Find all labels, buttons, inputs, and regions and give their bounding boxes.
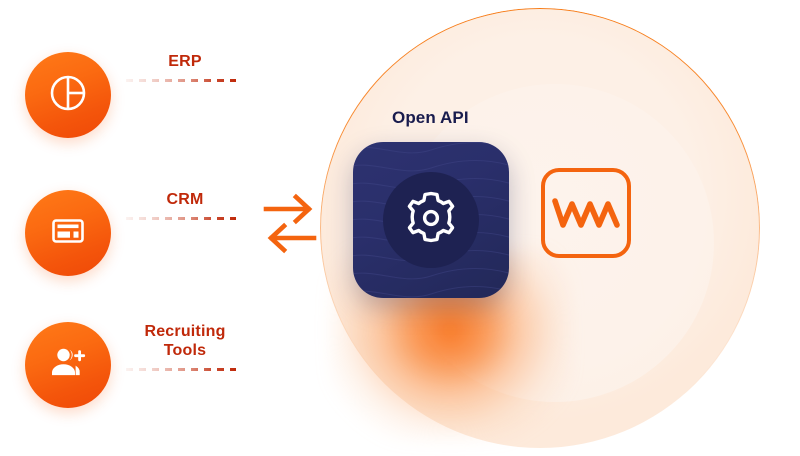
- connector-dash-crm: [126, 217, 236, 220]
- wm-logo-icon: [541, 168, 631, 258]
- gear-disc: [383, 172, 479, 268]
- connector-dash-erp: [126, 79, 236, 82]
- open-api-label: Open API: [392, 108, 469, 128]
- pie-chart-icon: [47, 72, 89, 119]
- bidirectional-arrows-icon: [262, 192, 318, 256]
- connector-dash-recruiting-tools: [126, 368, 236, 371]
- source-item-crm[interactable]: CRM: [18, 190, 248, 286]
- wm-monogram: [550, 190, 622, 236]
- dashboard-layout-icon: [47, 210, 89, 257]
- erp-text-block: ERP: [122, 52, 248, 82]
- erp-bubble[interactable]: [25, 52, 111, 138]
- source-item-recruiting-tools[interactable]: Recruiting Tools: [18, 322, 248, 418]
- recruiting-tools-bubble[interactable]: [25, 322, 111, 408]
- diagram-canvas: ERP CRM: [0, 0, 800, 456]
- source-item-erp[interactable]: ERP: [18, 52, 248, 148]
- source-label-recruiting-tools-line2: Tools: [122, 341, 248, 360]
- source-label-crm: CRM: [122, 190, 248, 209]
- open-api-card[interactable]: [353, 142, 509, 298]
- source-label-erp: ERP: [122, 52, 248, 71]
- gear-icon: [400, 187, 462, 254]
- source-label-recruiting-tools-line1: Recruiting: [122, 322, 248, 341]
- recruiting-tools-text-block: Recruiting Tools: [122, 322, 248, 371]
- add-user-icon: [45, 340, 91, 391]
- crm-bubble[interactable]: [25, 190, 111, 276]
- crm-text-block: CRM: [122, 190, 248, 220]
